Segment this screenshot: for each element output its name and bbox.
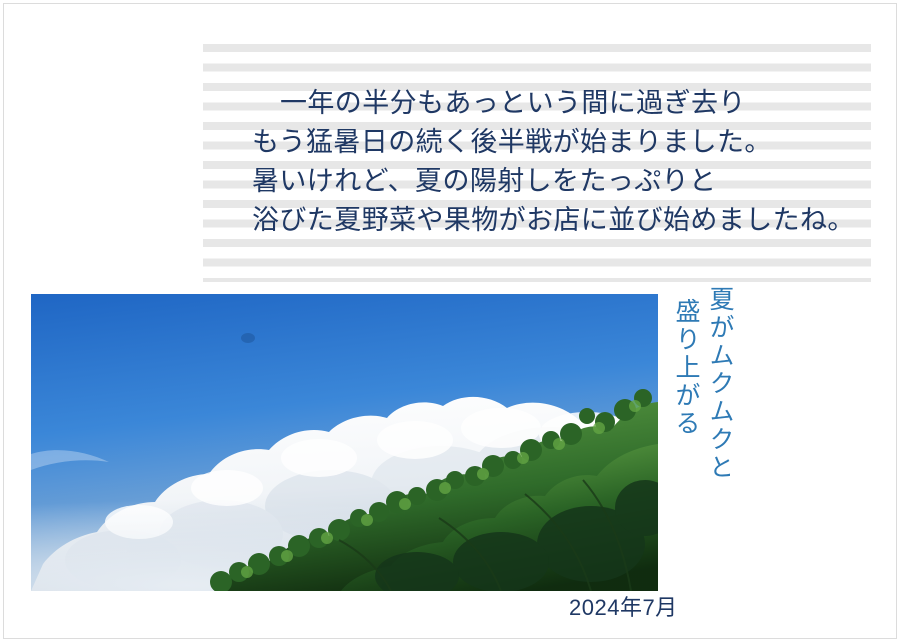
vertical-caption-column-1: 夏がムクムクと — [707, 286, 732, 482]
greeting-line-1: 一年の半分もあっという間に過ぎ去り — [252, 84, 892, 123]
photo-artwork — [31, 294, 658, 591]
greeting-line-3: 暑いけれど、夏の陽射しをたっぷりと — [252, 162, 892, 201]
greeting-card-page: 一年の半分もあっという間に過ぎ去り もう猛暑日の続く後半戦が始まりました。 暑い… — [0, 0, 900, 642]
greeting-line-2: もう猛暑日の続く後半戦が始まりました。 — [252, 123, 892, 162]
greeting-line-4: 浴びた夏野菜や果物がお店に並び始めましたね。 — [252, 201, 892, 240]
vertical-caption-column-2: 盛り上がる — [673, 298, 698, 438]
date-label: 2024年7月 — [569, 590, 678, 622]
greeting-paragraph: 一年の半分もあっという間に過ぎ去り もう猛暑日の続く後半戦が始まりました。 暑い… — [252, 84, 892, 240]
sky-speck — [241, 333, 255, 343]
summer-sky-photo — [31, 294, 658, 591]
vertical-caption: 夏がムクムクと 盛り上がる — [664, 286, 732, 586]
